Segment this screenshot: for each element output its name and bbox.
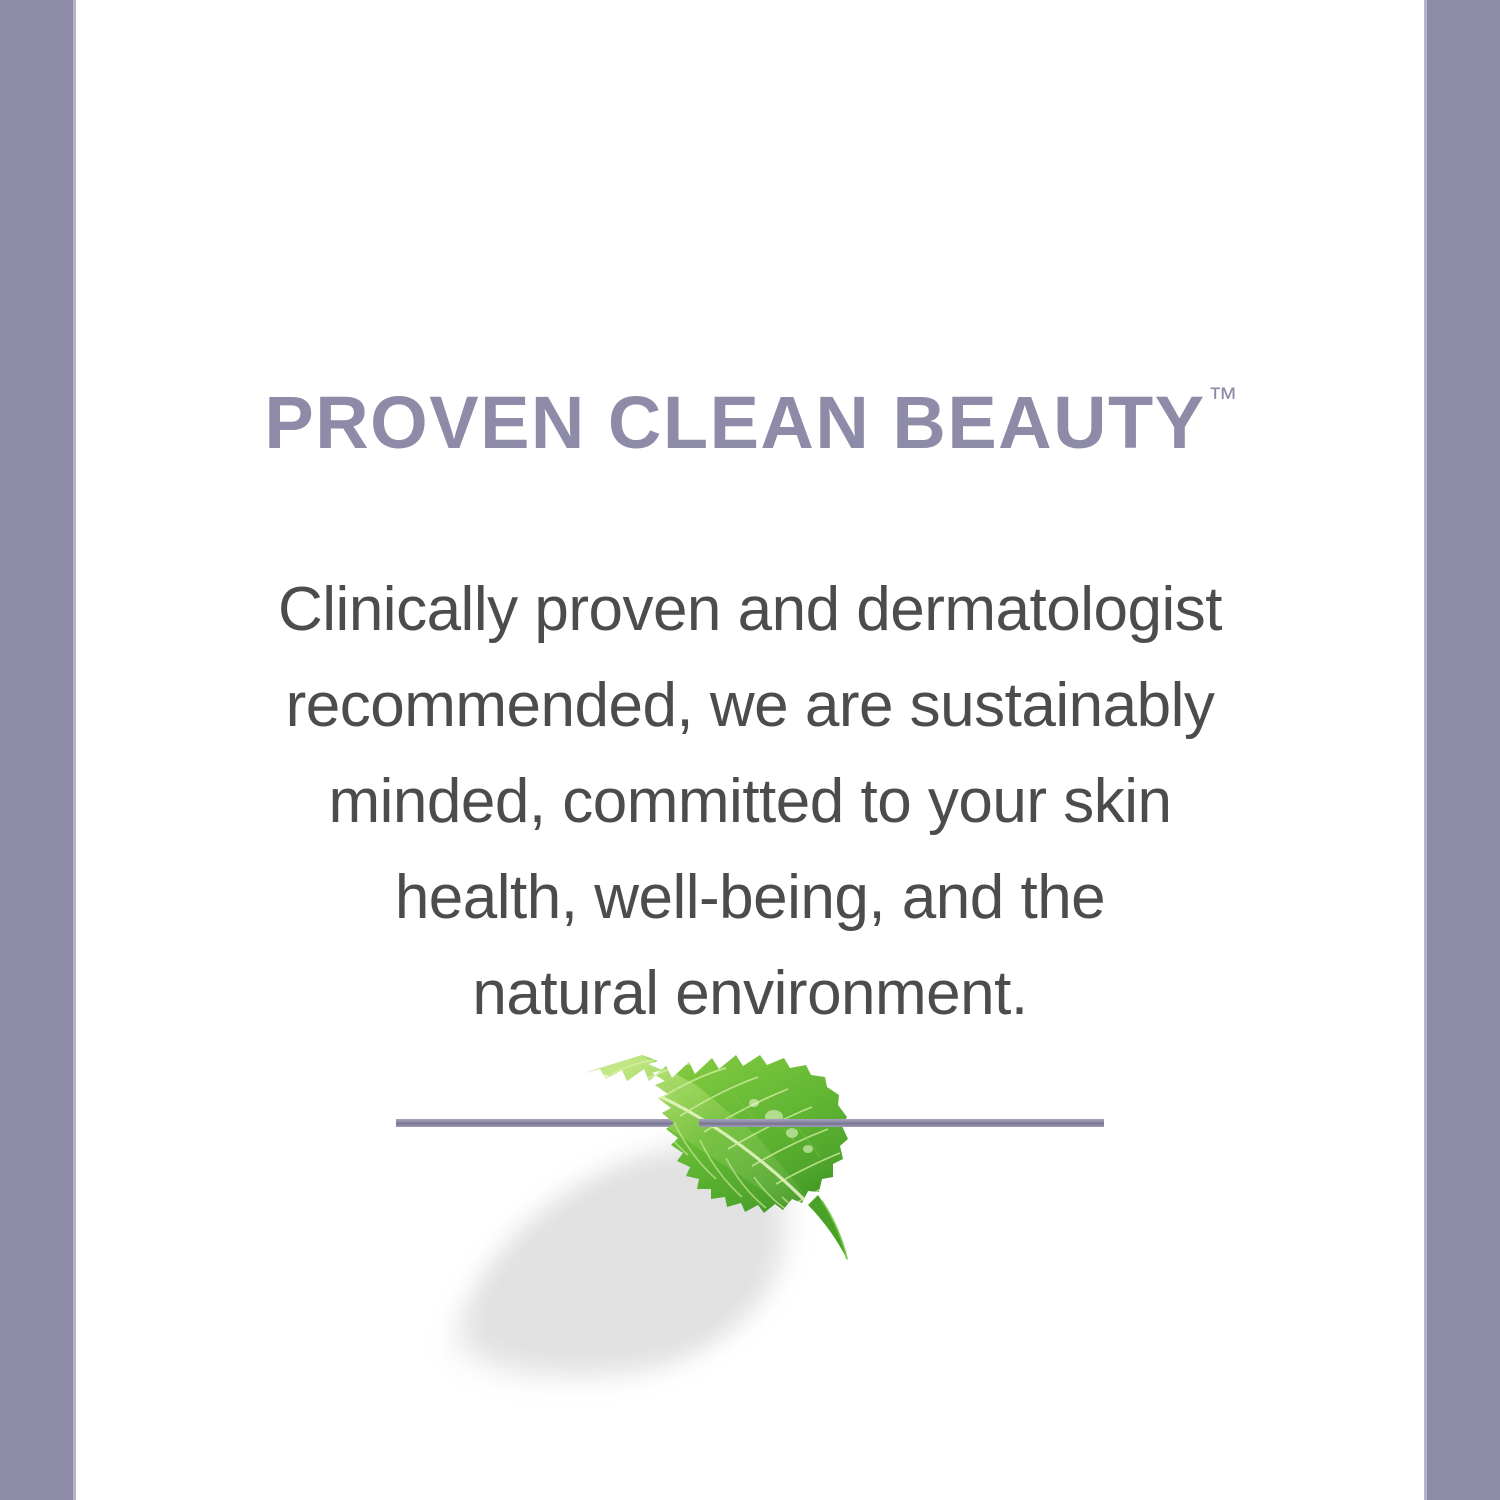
- body-line-4: health, well-being, and the: [170, 850, 1330, 946]
- left-purple-bar: [0, 0, 76, 1500]
- page-title-text: PROVEN CLEAN BEAUTY: [264, 381, 1205, 464]
- right-purple-bar: [1424, 0, 1500, 1500]
- body-line-2: recommended, we are sustainably: [170, 658, 1330, 754]
- body-paragraph: Clinically proven and dermatologist reco…: [170, 562, 1330, 1042]
- leaf-icon: [576, 1025, 866, 1275]
- content-column: PROVEN CLEAN BEAUTY™ Clinically proven a…: [79, 0, 1421, 1500]
- body-line-1: Clinically proven and dermatologist: [170, 562, 1330, 658]
- marketing-banner: PROVEN CLEAN BEAUTY™ Clinically proven a…: [0, 0, 1500, 1500]
- leaf-ornament: [79, 1019, 1421, 1439]
- trademark-symbol: ™: [1208, 382, 1238, 415]
- page-title: PROVEN CLEAN BEAUTY™: [79, 386, 1421, 460]
- body-line-3: minded, committed to your skin: [170, 754, 1330, 850]
- divider-line-front-segment: [699, 1119, 854, 1127]
